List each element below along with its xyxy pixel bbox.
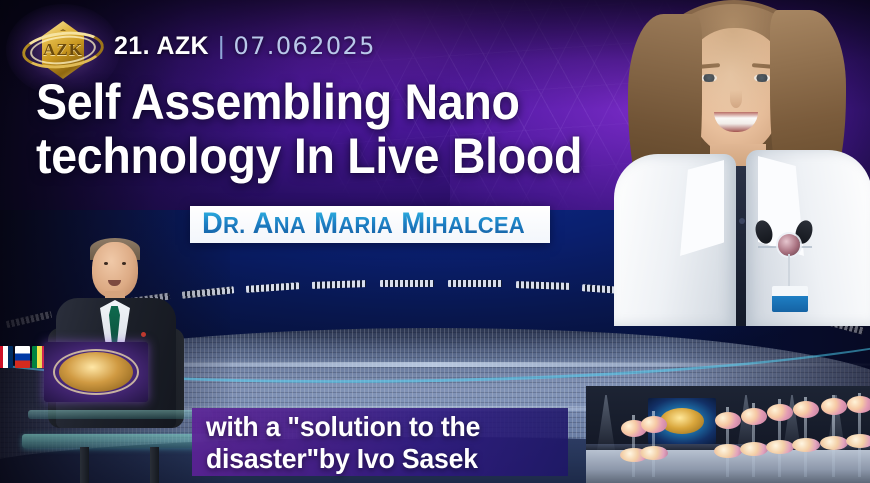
header-separator: |	[218, 32, 225, 61]
badge-reel-cord	[788, 254, 790, 288]
subtitle-band: with a "solution to the disaster"by Ivo …	[192, 408, 568, 476]
poster-canvas: AZK 21. AZK | 07.062025 Self Assembling …	[0, 0, 870, 483]
logo-text: AZK	[20, 40, 106, 60]
podium-post-left	[80, 447, 89, 483]
azk-diamond-logo-icon: AZK	[20, 18, 106, 82]
speaker-name-band: DR. ANA MARIA MIHALCEA	[190, 206, 550, 243]
podium-post-right	[150, 447, 159, 483]
badge-reel-icon	[778, 234, 800, 256]
azk-logo-on-podium	[44, 342, 148, 402]
speaker-name-dr: DR.	[202, 207, 245, 240]
speaker-head	[92, 242, 138, 298]
event-date-label: 07.062025	[233, 32, 375, 60]
stage-with-flowers	[586, 386, 870, 483]
podium-glass-upper	[28, 410, 212, 419]
header-bar: 21. AZK | 07.062025	[114, 32, 376, 61]
title-line-1: Self Assembling Nano	[36, 76, 613, 130]
title-line-2: technology In Live Blood	[36, 130, 613, 184]
subtitle-line-2: disaster"by Ivo Sasek	[206, 443, 550, 475]
speaker-portrait-photo	[606, 0, 870, 324]
speaker-name-middle: MARIA	[314, 207, 393, 240]
speaker-name-last: MIHALCEA	[401, 207, 525, 240]
speaker-eye-right	[122, 262, 126, 265]
speaker-lapel-pin	[141, 332, 146, 337]
azk-logo-on-stage-screen	[660, 408, 704, 434]
page-title: Self Assembling Nano technology In Live …	[36, 76, 613, 183]
speaker-eye-left	[104, 262, 108, 265]
id-badge	[772, 286, 808, 312]
speaker-name: DR. ANA MARIA MIHALCEA	[202, 209, 525, 239]
speaker-name-first: ANA	[253, 207, 306, 240]
portrait-shirt-button	[739, 218, 745, 224]
event-edition-label: 21. AZK	[114, 32, 209, 61]
subtitle-line-1: with a "solution to the	[206, 411, 550, 443]
podium-glass-top	[22, 434, 218, 448]
